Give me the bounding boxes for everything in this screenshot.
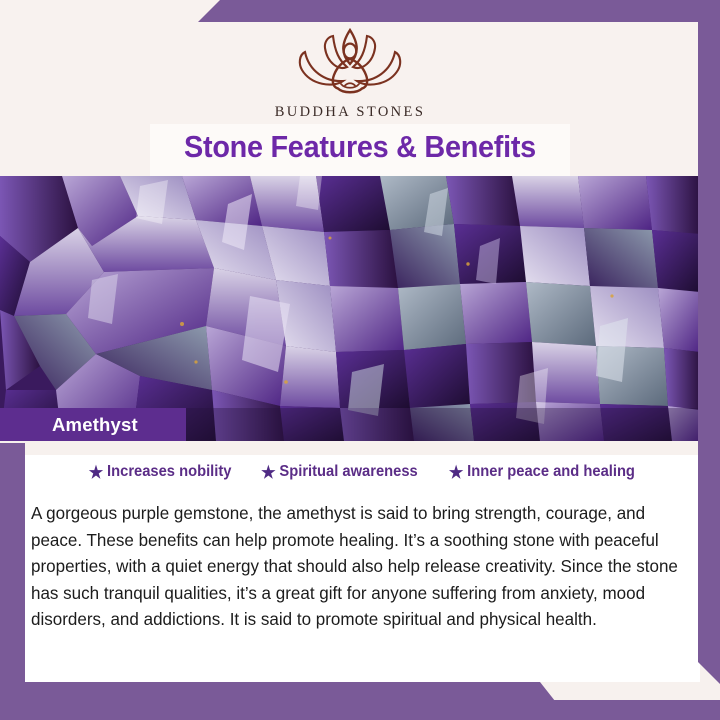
frame-accent-left	[0, 443, 25, 700]
benefit-item-2: ★ Spiritual awareness	[261, 463, 418, 481]
lotus-meditation-icon	[275, 24, 425, 102]
stone-name-banner: Amethyst	[0, 408, 186, 441]
benefit-label-2: Spiritual awareness	[280, 463, 418, 481]
benefit-label-1: Increases nobility	[107, 463, 231, 481]
header-section: BUDDHA STONES Stone Features & Benefits	[0, 0, 700, 176]
brand-name: BUDDHA STONES	[0, 104, 700, 121]
benefit-label-3: Inner peace and healing	[467, 463, 635, 481]
page-title: Stone Features & Benefits	[165, 129, 556, 165]
star-icon: ★	[449, 464, 463, 481]
brand-logo: BUDDHA STONES	[0, 24, 700, 121]
amethyst-crystal-photo	[0, 176, 700, 441]
star-icon: ★	[89, 464, 103, 481]
stone-name-label: Amethyst	[52, 414, 138, 436]
stone-description: A gorgeous purple gemstone, the amethyst…	[31, 500, 683, 633]
frame-accent-top	[198, 0, 720, 22]
stone-features-poster: BUDDHA STONES Stone Features & Benefits	[0, 0, 720, 720]
benefits-list: ★ Increases nobility ★ Spiritual awarene…	[25, 463, 700, 481]
panel-top-tint	[25, 441, 700, 455]
frame-accent-right	[698, 0, 720, 684]
benefit-item-3: ★ Inner peace and healing	[449, 463, 635, 481]
content-panel: ★ Increases nobility ★ Spiritual awarene…	[25, 441, 700, 682]
benefit-item-1: ★ Increases nobility	[89, 463, 232, 481]
crystal-facets-graphic	[0, 176, 700, 441]
star-icon: ★	[261, 464, 275, 481]
